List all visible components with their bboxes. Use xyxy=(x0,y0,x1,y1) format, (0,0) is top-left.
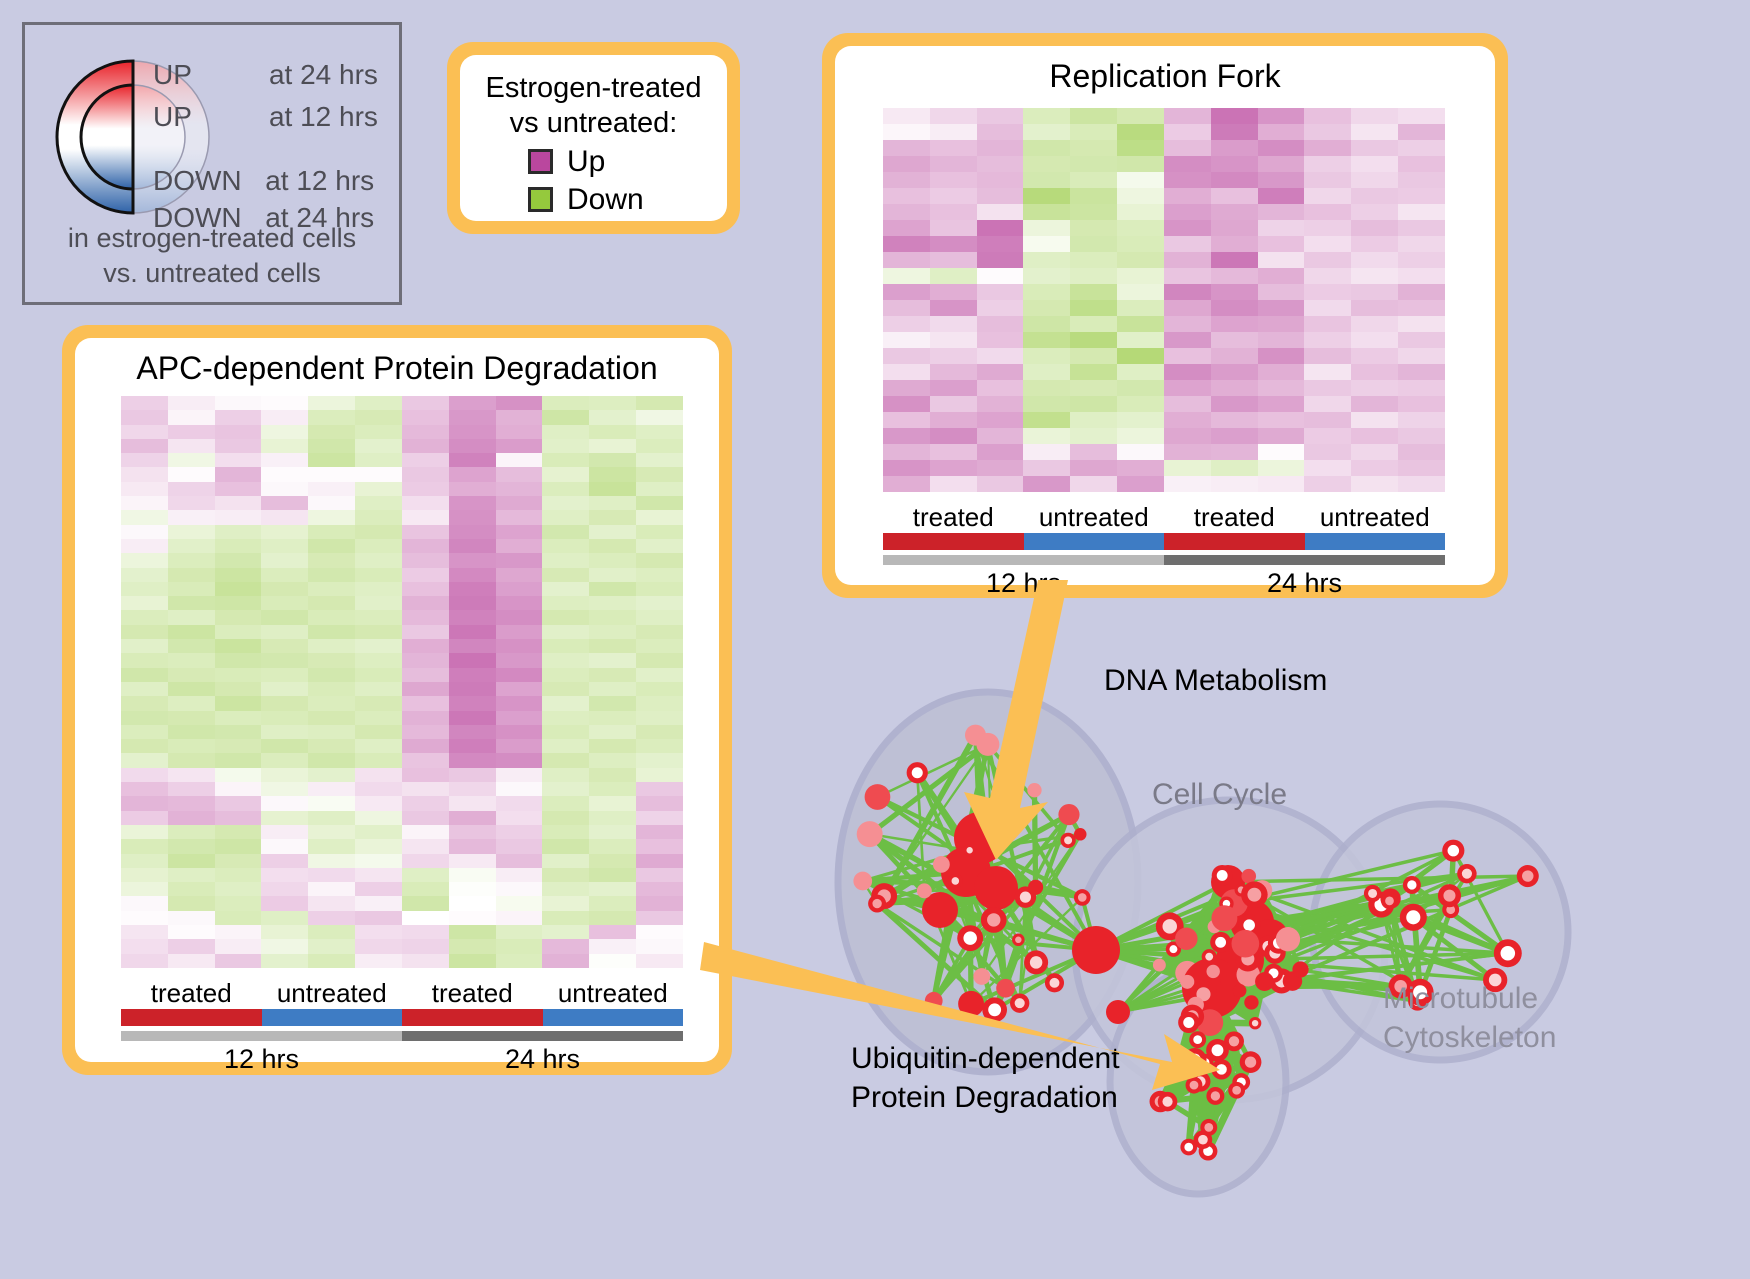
heatmap-cell xyxy=(1304,172,1351,188)
heatmap-cell xyxy=(496,854,543,868)
heatmap-cell xyxy=(1258,476,1305,492)
heatmap-cell xyxy=(930,316,977,332)
condition-label: treated xyxy=(1164,502,1305,533)
heatmap-cell xyxy=(636,668,683,682)
heatmap-cell xyxy=(636,439,683,453)
heatmap-cell xyxy=(1351,396,1398,412)
heatmap-cell xyxy=(496,882,543,896)
heatmap-cell xyxy=(261,553,308,567)
heatmap-cell xyxy=(355,768,402,782)
heatmap-cell xyxy=(261,896,308,910)
heatmap-cell xyxy=(308,796,355,810)
heatmap-cell xyxy=(308,925,355,939)
cluster-label-microtubule-cytoskeleton: Microtubule Cytoskeleton xyxy=(1383,979,1556,1057)
heatmap-cell xyxy=(168,696,215,710)
heatmap-cell xyxy=(589,839,636,853)
heatmap-cell xyxy=(355,653,402,667)
heatmap-cell xyxy=(542,582,589,596)
heatmap-cell xyxy=(1211,396,1258,412)
heatmap-cell xyxy=(883,460,930,476)
heatmap-cell xyxy=(636,854,683,868)
apc-dependent-title: APC-dependent Protein Degradation xyxy=(75,338,719,387)
heatmap-cell xyxy=(496,725,543,739)
heatmap-cell xyxy=(1070,364,1117,380)
heatmap-cell xyxy=(589,896,636,910)
heatmap-cell xyxy=(589,525,636,539)
heatmap-cell xyxy=(1164,236,1211,252)
heatmap-cell xyxy=(883,188,930,204)
heatmap-cell xyxy=(1070,140,1117,156)
heatmap-cell xyxy=(1164,380,1211,396)
heatmap-cell xyxy=(308,396,355,410)
heatmap-cell xyxy=(449,439,496,453)
heatmap-cell xyxy=(496,954,543,968)
replication-fork-panel: Replication Fork treateduntreatedtreated… xyxy=(822,33,1508,598)
heatmap-cell xyxy=(308,425,355,439)
heatmap-cell xyxy=(261,925,308,939)
heatmap-cell xyxy=(449,596,496,610)
heatmap-cell xyxy=(589,868,636,882)
heatmap-cell xyxy=(449,811,496,825)
heatmap-cell xyxy=(883,444,930,460)
heatmap-cell xyxy=(977,268,1024,284)
heatmap-cell xyxy=(168,739,215,753)
color-key-box: UP at 24 hrs UP at 12 hrs DOWN at 12 hrs… xyxy=(22,22,402,305)
heatmap-cell xyxy=(1304,476,1351,492)
heatmap-cell xyxy=(215,668,262,682)
network-node xyxy=(1211,905,1237,931)
heatmap-cell xyxy=(402,396,449,410)
heatmap-cell xyxy=(215,854,262,868)
heatmap-cell xyxy=(121,568,168,582)
heatmap-cell xyxy=(589,625,636,639)
heatmap-cell xyxy=(1164,220,1211,236)
heatmap-cell xyxy=(308,439,355,453)
heatmap-cell xyxy=(1211,188,1258,204)
network-node xyxy=(1241,869,1256,884)
heatmap-cell xyxy=(1351,412,1398,428)
heatmap-cell xyxy=(1070,236,1117,252)
heatmap-cell xyxy=(1023,364,1070,380)
heatmap-cell xyxy=(449,510,496,524)
heatmap-cell xyxy=(355,954,402,968)
heatmap-cell xyxy=(261,467,308,481)
heatmap-cell xyxy=(977,332,1024,348)
heatmap-cell xyxy=(402,625,449,639)
heatmap-cell xyxy=(121,496,168,510)
heatmap-cell xyxy=(1070,220,1117,236)
heatmap-cell xyxy=(308,682,355,696)
heatmap-cell xyxy=(1211,316,1258,332)
heatmap-cell xyxy=(883,156,930,172)
heatmap-cell xyxy=(1398,476,1445,492)
heatmap-cell xyxy=(402,896,449,910)
heatmap-cell xyxy=(449,882,496,896)
heatmap-cell xyxy=(261,868,308,882)
heatmap-cell xyxy=(449,796,496,810)
heatmap-cell xyxy=(168,525,215,539)
heatmap-cell xyxy=(449,453,496,467)
heatmap-cell xyxy=(355,839,402,853)
heatmap-cell xyxy=(589,825,636,839)
heatmap-cell xyxy=(449,539,496,553)
heatmap-cell xyxy=(308,939,355,953)
heatmap-cell xyxy=(977,460,1024,476)
heatmap-cell xyxy=(496,768,543,782)
heatmap-cell xyxy=(168,868,215,882)
heatmap-cell xyxy=(449,610,496,624)
condition-label: treated xyxy=(883,502,1024,533)
heatmap-cell xyxy=(1117,172,1164,188)
heatmap-cell xyxy=(168,539,215,553)
heatmap-cell xyxy=(121,753,168,767)
heatmap-cell xyxy=(449,839,496,853)
heatmap-cell xyxy=(1117,316,1164,332)
heatmap-cell xyxy=(589,396,636,410)
heatmap-cell xyxy=(1211,380,1258,396)
heatmap-cell xyxy=(636,954,683,968)
heatmap-cell xyxy=(168,396,215,410)
heatmap-cell xyxy=(1398,156,1445,172)
network-node xyxy=(853,872,872,891)
key-row-1-state: UP xyxy=(153,101,191,132)
heatmap-cell xyxy=(215,610,262,624)
heatmap-cell xyxy=(449,739,496,753)
heatmap-cell xyxy=(1304,108,1351,124)
heatmap-cell xyxy=(883,364,930,380)
network-node-core xyxy=(872,899,881,908)
heatmap-cell xyxy=(402,496,449,510)
heatmap-cell xyxy=(215,653,262,667)
heatmap-cell xyxy=(930,428,977,444)
heatmap-cell xyxy=(542,868,589,882)
heatmap-cell xyxy=(1070,348,1117,364)
heatmap-cell xyxy=(1164,140,1211,156)
heatmap-cell xyxy=(402,911,449,925)
heatmap-cell xyxy=(589,453,636,467)
heatmap-cell xyxy=(883,108,930,124)
key-row-1-time: at 12 hrs xyxy=(269,101,378,132)
heatmap-cell xyxy=(168,568,215,582)
heatmap-cell xyxy=(636,939,683,953)
heatmap-cell xyxy=(168,682,215,696)
heatmap-cell xyxy=(261,682,308,696)
heatmap-cell xyxy=(496,682,543,696)
heatmap-cell xyxy=(542,839,589,853)
heatmap-cell xyxy=(1211,428,1258,444)
replication-fork-condition-bar xyxy=(883,533,1445,550)
heatmap-cell xyxy=(1351,428,1398,444)
heatmap-cell xyxy=(589,696,636,710)
heatmap-cell xyxy=(1070,108,1117,124)
replication-fork-heatmap xyxy=(883,108,1445,492)
heatmap-cell xyxy=(261,396,308,410)
heatmap-cell xyxy=(542,653,589,667)
heatmap-cell xyxy=(1398,236,1445,252)
heatmap-cell xyxy=(589,582,636,596)
heatmap-cell xyxy=(1398,172,1445,188)
heatmap-cell xyxy=(1258,300,1305,316)
heatmap-cell xyxy=(1398,188,1445,204)
heatmap-cell xyxy=(449,711,496,725)
heatmap-cell xyxy=(449,482,496,496)
network-node xyxy=(1292,961,1308,977)
heatmap-cell xyxy=(542,482,589,496)
heatmap-cell xyxy=(308,882,355,896)
heatmap-cell xyxy=(1398,204,1445,220)
heatmap-cell xyxy=(1117,156,1164,172)
heatmap-cell xyxy=(121,839,168,853)
heatmap-cell xyxy=(589,796,636,810)
heatmap-cell xyxy=(589,768,636,782)
heatmap-cell xyxy=(355,868,402,882)
heatmap-cell xyxy=(1070,268,1117,284)
network-node-core xyxy=(1385,896,1394,905)
heatmap-cell xyxy=(308,653,355,667)
arrow-replication-fork-to-dna-metabolism xyxy=(940,580,1170,870)
heatmap-cell xyxy=(1117,108,1164,124)
heatmap-cell xyxy=(977,108,1024,124)
heatmap-cell xyxy=(168,496,215,510)
heatmap-cell xyxy=(168,410,215,424)
heatmap-cell xyxy=(1304,364,1351,380)
heatmap-cell xyxy=(1258,108,1305,124)
heatmap-cell xyxy=(977,140,1024,156)
heatmap-cell xyxy=(215,868,262,882)
heatmap-cell xyxy=(402,739,449,753)
heatmap-cell xyxy=(1211,460,1258,476)
heatmap-cell xyxy=(1117,204,1164,220)
network-node-core xyxy=(952,877,960,885)
heatmap-cell xyxy=(168,582,215,596)
legend-item-down[interactable]: Down xyxy=(528,183,727,217)
heatmap-cell xyxy=(215,582,262,596)
heatmap-cell xyxy=(1164,172,1211,188)
heatmap-cell xyxy=(636,625,683,639)
legend-item-up[interactable]: Up xyxy=(528,145,727,179)
heatmap-cell xyxy=(1258,284,1305,300)
heatmap-cell xyxy=(215,439,262,453)
heatmap-cell xyxy=(1070,156,1117,172)
heatmap-cell xyxy=(883,476,930,492)
key-row-1: UP at 12 hrs xyxy=(153,101,378,133)
key-row-0-state: UP xyxy=(153,59,191,90)
heatmap-cell xyxy=(1117,476,1164,492)
heatmap-cell xyxy=(308,568,355,582)
heatmap-cell xyxy=(1164,124,1211,140)
heatmap-cell xyxy=(589,725,636,739)
heatmap-cell xyxy=(402,510,449,524)
heatmap-cell xyxy=(1164,460,1211,476)
heatmap-cell xyxy=(1304,300,1351,316)
heatmap-cell xyxy=(883,172,930,188)
heatmap-cell xyxy=(1023,220,1070,236)
heatmap-cell xyxy=(542,796,589,810)
heatmap-cell xyxy=(215,639,262,653)
heatmap-cell xyxy=(261,753,308,767)
heatmap-cell xyxy=(449,682,496,696)
heatmap-cell xyxy=(402,668,449,682)
heatmap-cell xyxy=(1023,300,1070,316)
heatmap-cell xyxy=(977,300,1024,316)
heatmap-cell xyxy=(1117,268,1164,284)
heatmap-cell xyxy=(496,396,543,410)
key-row-2: DOWN at 12 hrs xyxy=(153,165,374,197)
heatmap-cell xyxy=(168,854,215,868)
heatmap-cell xyxy=(261,739,308,753)
heatmap-cell xyxy=(542,911,589,925)
heatmap-cell xyxy=(636,539,683,553)
heatmap-cell xyxy=(402,653,449,667)
heatmap-cell xyxy=(355,882,402,896)
legend-swatch-up-icon xyxy=(528,149,553,174)
legend-label-up: Up xyxy=(567,145,605,179)
heatmap-cell xyxy=(977,444,1024,460)
heatmap-cell xyxy=(308,696,355,710)
heatmap-cell xyxy=(1117,348,1164,364)
heatmap-cell xyxy=(355,582,402,596)
heatmap-cell xyxy=(402,425,449,439)
heatmap-cell xyxy=(308,668,355,682)
heatmap-cell xyxy=(1023,428,1070,444)
heatmap-cell xyxy=(1070,380,1117,396)
heatmap-cell xyxy=(261,525,308,539)
heatmap-cell xyxy=(121,696,168,710)
heatmap-cell xyxy=(930,364,977,380)
heatmap-cell xyxy=(215,768,262,782)
heatmap-cell xyxy=(1211,300,1258,316)
heatmap-cell xyxy=(215,839,262,853)
heatmap-cell xyxy=(355,453,402,467)
heatmap-cell xyxy=(977,124,1024,140)
heatmap-cell xyxy=(402,610,449,624)
heatmap-cell xyxy=(261,854,308,868)
heatmap-cell xyxy=(496,482,543,496)
heatmap-cell xyxy=(589,496,636,510)
heatmap-cell xyxy=(542,553,589,567)
heatmap-cell xyxy=(883,284,930,300)
heatmap-cell xyxy=(883,428,930,444)
heatmap-cell xyxy=(402,711,449,725)
heatmap-cell xyxy=(930,476,977,492)
condition-color-bar xyxy=(1305,533,1446,550)
heatmap-cell xyxy=(261,882,308,896)
heatmap-cell xyxy=(1117,236,1164,252)
heatmap-cell xyxy=(1304,412,1351,428)
heatmap-cell xyxy=(1398,364,1445,380)
heatmap-cell xyxy=(1164,156,1211,172)
heatmap-cell xyxy=(1304,428,1351,444)
heatmap-cell xyxy=(636,925,683,939)
heatmap-cell xyxy=(121,854,168,868)
heatmap-cell xyxy=(977,476,1024,492)
heatmap-cell xyxy=(636,639,683,653)
heatmap-cell xyxy=(121,811,168,825)
heatmap-cell xyxy=(355,811,402,825)
heatmap-cell xyxy=(930,220,977,236)
heatmap-cell xyxy=(1258,252,1305,268)
heatmap-cell xyxy=(1258,236,1305,252)
heatmap-cell xyxy=(308,610,355,624)
network-node-core xyxy=(987,913,1000,926)
heatmap-cell xyxy=(449,582,496,596)
heatmap-cell xyxy=(168,725,215,739)
heatmap-cell xyxy=(542,682,589,696)
heatmap-cell xyxy=(402,568,449,582)
heatmap-cell xyxy=(930,140,977,156)
heatmap-cell xyxy=(636,482,683,496)
network-node-core xyxy=(1501,946,1516,961)
heatmap-cell xyxy=(1398,300,1445,316)
condition-color-bar xyxy=(121,1009,262,1026)
heatmap-cell xyxy=(496,425,543,439)
time-color-bar xyxy=(402,1031,683,1041)
heatmap-cell xyxy=(261,425,308,439)
heatmap-cell xyxy=(121,396,168,410)
heatmap-cell xyxy=(121,525,168,539)
heatmap-cell xyxy=(449,753,496,767)
heatmap-cell xyxy=(930,412,977,428)
network-node xyxy=(1028,880,1043,895)
heatmap-cell xyxy=(496,539,543,553)
heatmap-cell xyxy=(542,954,589,968)
heatmap-cell xyxy=(1211,108,1258,124)
heatmap-cell xyxy=(308,753,355,767)
heatmap-cell xyxy=(589,539,636,553)
heatmap-cell xyxy=(215,396,262,410)
replication-fork-title: Replication Fork xyxy=(835,46,1495,95)
heatmap-cell xyxy=(883,300,930,316)
heatmap-cell xyxy=(1117,412,1164,428)
network-node-core xyxy=(1217,870,1228,881)
heatmap-cell xyxy=(1070,172,1117,188)
heatmap-cell xyxy=(168,782,215,796)
heatmap-cell xyxy=(261,582,308,596)
heatmap-cell xyxy=(883,236,930,252)
heatmap-cell xyxy=(261,625,308,639)
heatmap-cell xyxy=(1398,124,1445,140)
heatmap-cell xyxy=(355,539,402,553)
heatmap-cell xyxy=(930,252,977,268)
heatmap-cell xyxy=(402,868,449,882)
heatmap-cell xyxy=(1164,204,1211,220)
heatmap-cell xyxy=(355,568,402,582)
heatmap-cell xyxy=(402,696,449,710)
heatmap-cell xyxy=(168,796,215,810)
heatmap-cell xyxy=(977,364,1024,380)
heatmap-cell xyxy=(449,825,496,839)
heatmap-cell xyxy=(1117,364,1164,380)
heatmap-cell xyxy=(355,896,402,910)
network-node xyxy=(974,866,1018,910)
heatmap-cell xyxy=(542,625,589,639)
heatmap-cell xyxy=(1258,220,1305,236)
heatmap-cell xyxy=(1117,444,1164,460)
heatmap-cell xyxy=(1351,156,1398,172)
heatmap-cell xyxy=(542,768,589,782)
heatmap-cell xyxy=(215,796,262,810)
heatmap-cell xyxy=(1398,108,1445,124)
heatmap-cell xyxy=(636,796,683,810)
heatmap-cell xyxy=(308,711,355,725)
condition-label: untreated xyxy=(262,978,403,1009)
heatmap-cell xyxy=(1258,268,1305,284)
heatmap-cell xyxy=(1164,252,1211,268)
heatmap-cell xyxy=(261,939,308,953)
heatmap-cell xyxy=(168,467,215,481)
heatmap-cell xyxy=(1304,188,1351,204)
heatmap-cell xyxy=(308,496,355,510)
